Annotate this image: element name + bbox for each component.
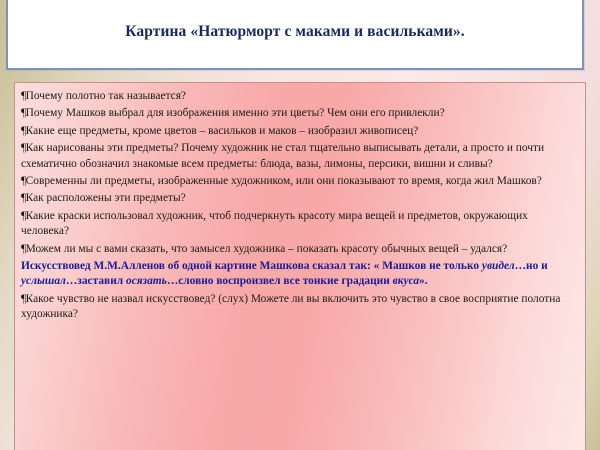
page-title: Картина «Натюрморт с маками и васильками… <box>125 23 464 41</box>
quote-text: …заставил <box>66 275 126 287</box>
slide-title-box: Картина «Натюрморт с маками и васильками… <box>6 0 584 70</box>
question-item: ¶Можем ли мы с вами сказать, что замысел… <box>21 242 575 257</box>
question-item: ¶Современны ли предметы, изображенные ху… <box>21 174 575 189</box>
question-list: ¶Почему полотно так называется?¶Почему М… <box>21 89 575 323</box>
quote-text: …словно воспроизвел все тонкие градации <box>167 275 393 287</box>
question-item: ¶Как расположены эти предметы? <box>21 191 575 206</box>
question-item: ¶Какое чувство не назвал искусствовед? (… <box>21 292 575 323</box>
question-text: Почему Машков выбрал для изображения име… <box>26 107 445 119</box>
question-text: Современны ли предметы, изображенные худ… <box>26 175 542 187</box>
question-item: ¶Почему Машков выбрал для изображения им… <box>21 106 575 121</box>
emphasized-text: осязать <box>126 275 167 287</box>
question-item: ¶Какие краски использовал художник, чтоб… <box>21 209 575 240</box>
question-text: Какие еще предметы, кроме цветов – васил… <box>26 125 419 137</box>
quote-text: …но и <box>515 260 548 272</box>
question-text: Какие краски использовал художник, чтоб … <box>21 210 528 237</box>
question-text: Можем ли мы с вами сказать, что замысел … <box>26 243 508 255</box>
emphasized-text: вкуса <box>393 275 419 287</box>
question-item: ¶Почему полотно так называется? <box>21 89 575 104</box>
question-item: ¶Как нарисованы эти предметы? Почему худ… <box>21 141 575 172</box>
question-text: Как расположены эти предметы? <box>26 192 186 204</box>
question-item: Искусствовед М.М.Алленов об одной картин… <box>21 259 575 290</box>
question-text: Почему полотно так называется? <box>26 90 186 102</box>
question-text: Как нарисованы эти предметы? Почему худо… <box>21 142 544 169</box>
quote-text: Искусствовед М.М.Алленов об одной картин… <box>21 260 482 272</box>
question-text: Какое чувство не назвал искусствовед? (с… <box>21 293 560 320</box>
question-list-box: ¶Почему полотно так называется?¶Почему М… <box>14 82 586 450</box>
presentation-slide: Картина «Натюрморт с маками и васильками… <box>0 0 600 450</box>
emphasized-text: увидел <box>482 260 515 272</box>
emphasized-text: услышал <box>21 275 66 287</box>
quote-text: ». <box>419 275 428 287</box>
question-item: ¶Какие еще предметы, кроме цветов – васи… <box>21 124 575 139</box>
